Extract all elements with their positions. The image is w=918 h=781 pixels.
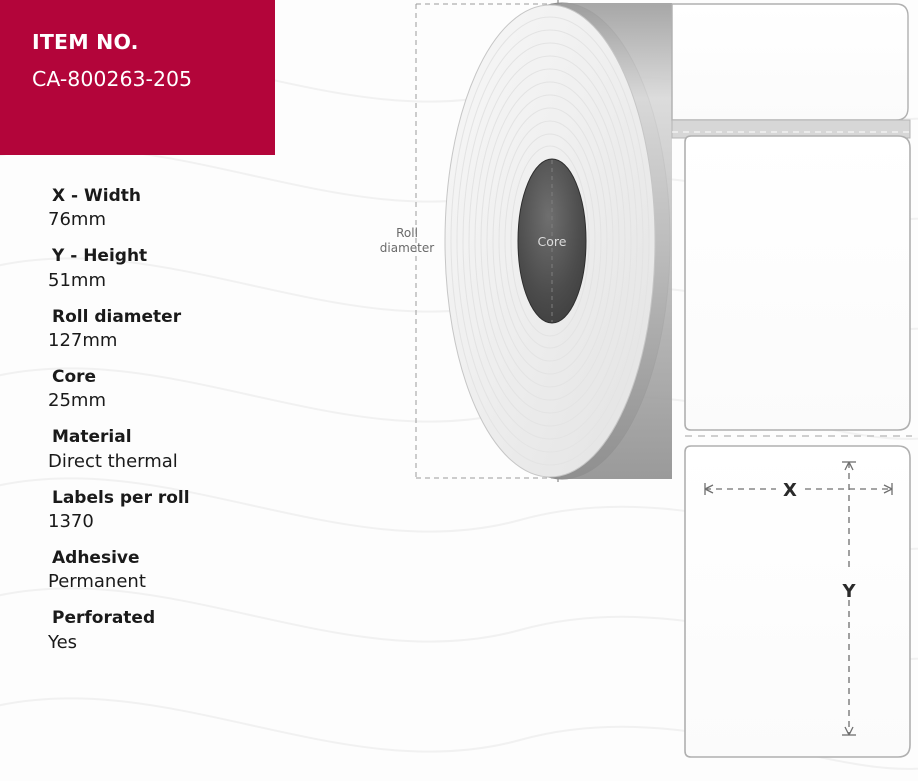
spec-label-core: Core xyxy=(0,367,300,388)
spec-label-perforated: Perforated xyxy=(0,608,300,629)
item-number-banner: ITEM NO. CA-800263-205 xyxy=(0,0,275,155)
item-number-value: CA-800263-205 xyxy=(32,67,275,92)
spec-value-perforated: Yes xyxy=(0,630,300,656)
spec-value-width: 76mm xyxy=(0,207,300,233)
roll-diameter-label-line1: Roll xyxy=(396,226,418,240)
spec-label-height: Y - Height xyxy=(0,246,300,267)
spec-row: Roll diameter 127mm xyxy=(0,307,300,354)
middle-label xyxy=(685,136,910,430)
x-dimension-label: X xyxy=(783,480,797,501)
spec-value-adhesive: Permanent xyxy=(0,569,300,595)
spec-value-labels-per-roll: 1370 xyxy=(0,509,300,535)
roll-illustration: Roll diameter xyxy=(300,0,918,781)
spec-value-material: Direct thermal xyxy=(0,449,300,475)
roll-diameter-label-line2: diameter xyxy=(380,241,434,255)
y-dimension-label: Y xyxy=(841,581,856,602)
spec-label-material: Material xyxy=(0,427,300,448)
spec-row: Y - Height 51mm xyxy=(0,246,300,293)
spec-row: Core 25mm xyxy=(0,367,300,414)
core-label: Core xyxy=(538,234,567,249)
spec-value-height: 51mm xyxy=(0,268,300,294)
spec-value-core: 25mm xyxy=(0,388,300,414)
label-roll-diagram: Roll diameter xyxy=(300,0,918,781)
item-number-title: ITEM NO. xyxy=(32,30,275,55)
spec-label-labels-per-roll: Labels per roll xyxy=(0,488,300,509)
spec-row: Perforated Yes xyxy=(0,608,300,655)
top-label xyxy=(672,4,908,120)
bottom-label xyxy=(685,446,910,757)
spec-row: Adhesive Permanent xyxy=(0,548,300,595)
spec-label-width: X - Width xyxy=(0,186,300,207)
spec-row: Material Direct thermal xyxy=(0,427,300,474)
specification-list: X - Width 76mm Y - Height 51mm Roll diam… xyxy=(0,186,300,669)
spec-value-roll-diameter: 127mm xyxy=(0,328,300,354)
spec-row: Labels per roll 1370 xyxy=(0,488,300,535)
product-spec-page: ITEM NO. CA-800263-205 X - Width 76mm Y … xyxy=(0,0,918,781)
spec-row: X - Width 76mm xyxy=(0,186,300,233)
spec-label-roll-diameter: Roll diameter xyxy=(0,307,300,328)
roll-body: Core xyxy=(445,3,672,479)
spec-label-adhesive: Adhesive xyxy=(0,548,300,569)
